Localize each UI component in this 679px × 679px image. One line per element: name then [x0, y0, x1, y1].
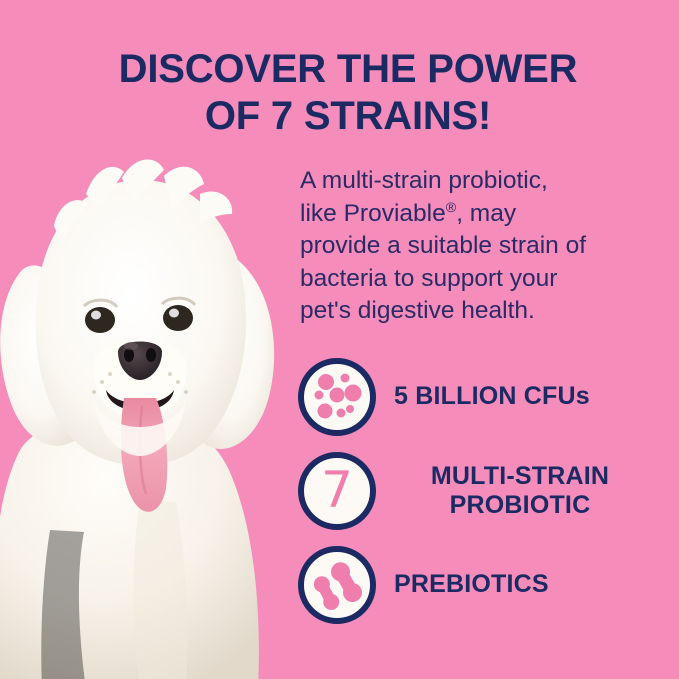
headline-line-2: OF 7 STRAINS! — [88, 93, 608, 140]
feature-label-cfus: 5 BILLION CFUs — [394, 382, 590, 411]
page-title: DISCOVER THE POWER OF 7 STRAINS! — [88, 46, 608, 140]
body-line-2-prefix: like Proviable — [300, 200, 446, 227]
feature-label-multistrain-line-1: MULTI-STRAIN — [394, 462, 646, 491]
feature-row-multistrain: 7 MULTI-STRAIN PROBIOTIC — [298, 452, 668, 530]
dog-photo — [0, 150, 320, 679]
body-line-3: provide a suitable strain of — [300, 230, 620, 263]
body-line-2: like Proviable®, may — [300, 198, 620, 231]
body-line-4: bacteria to support your — [300, 263, 620, 296]
body-paragraph: A multi-strain probiotic, like Proviable… — [300, 165, 620, 328]
feature-list: 5 BILLION CFUs 7 MULTI-STRAIN PROBIOTIC — [298, 358, 668, 624]
number-seven-glyph: 7 — [304, 465, 370, 515]
feature-label-prebiotics: PREBIOTICS — [394, 570, 549, 599]
feature-label-multistrain: MULTI-STRAIN PROBIOTIC — [394, 462, 646, 521]
feature-label-cfus-line-1: 5 BILLION CFUs — [394, 382, 590, 411]
body-line-2-suffix: , may — [456, 200, 516, 227]
headline-line-1: DISCOVER THE POWER — [88, 46, 608, 93]
feature-row-cfus: 5 BILLION CFUs — [298, 358, 668, 436]
number-seven-icon: 7 — [298, 452, 376, 530]
feature-label-multistrain-line-2: PROBIOTIC — [394, 491, 646, 520]
prebiotic-molecule-icon — [298, 546, 376, 624]
body-line-5: pet's digestive health. — [300, 295, 620, 328]
promo-poster: DISCOVER THE POWER OF 7 STRAINS! A multi… — [0, 0, 679, 679]
registered-mark-icon: ® — [446, 199, 456, 215]
body-line-1: A multi-strain probiotic, — [300, 165, 620, 198]
feature-label-prebiotics-line-1: PREBIOTICS — [394, 570, 549, 599]
feature-row-prebiotics: PREBIOTICS — [298, 546, 668, 624]
bacteria-dots-icon — [298, 358, 376, 436]
